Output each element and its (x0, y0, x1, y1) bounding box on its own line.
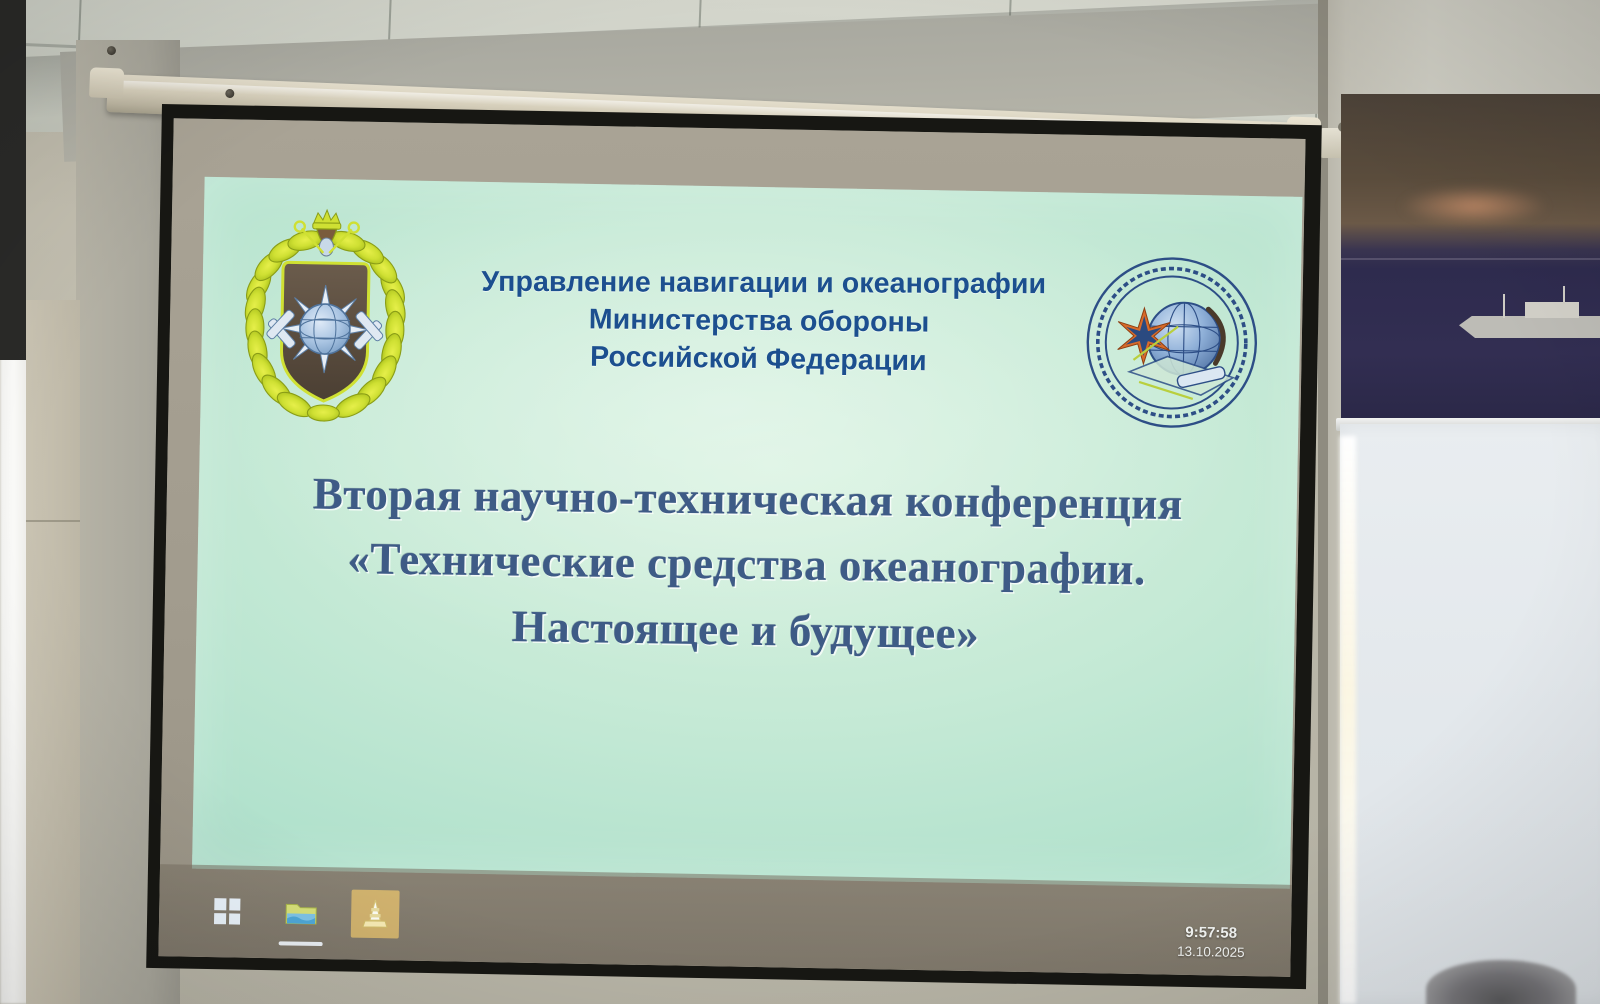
presentation-slide[interactable]: Управление навигации и океанографии Мини… (192, 177, 1302, 889)
painting-ship (1459, 292, 1600, 338)
left-wall-panel (26, 300, 80, 1004)
clock-date: 13.10.2025 (1177, 943, 1245, 962)
folder-icon (284, 898, 319, 927)
taskbar-clock[interactable]: 9:57:58 13.10.2025 (1177, 922, 1245, 962)
projection-screen[interactable]: Управление навигации и океанографии Мини… (146, 104, 1322, 989)
file-explorer-running-indicator (279, 941, 323, 946)
windows-logo-icon (214, 898, 240, 924)
header-line-1: Управление навигации и океанографии (439, 264, 1089, 305)
slide-header: Управление навигации и океанографии Мини… (433, 259, 1085, 385)
naval-ship-painting (1341, 94, 1600, 418)
header-line-3: Российской Федерации (433, 337, 1083, 383)
traffic-cone-icon (360, 898, 391, 931)
whiteboard (1340, 424, 1600, 1004)
painting-cloud (1399, 186, 1549, 226)
slide-title: Вторая научно-техническая конференция «Т… (196, 457, 1297, 673)
unio-mo-rf-emblem-icon (228, 199, 422, 430)
wall-panel-seam (26, 520, 80, 522)
file-explorer-button[interactable] (277, 888, 326, 937)
conference-room-photo: Управление навигации и океанографии Мини… (0, 0, 1600, 1004)
clock-time: 9:57:58 (1177, 922, 1245, 943)
vlc-media-player-button[interactable] (351, 890, 400, 939)
case-endcap-left (89, 67, 124, 98)
start-button[interactable] (203, 887, 252, 936)
case-mount-screw-mid (225, 89, 234, 98)
screen-surface: Управление навигации и океанографии Мини… (158, 118, 1305, 977)
window-light-strip (1340, 436, 1356, 1004)
left-dark-frame (0, 0, 26, 360)
painting-horizon (1341, 258, 1600, 260)
taskbar-icon-group (203, 887, 400, 939)
windows-taskbar[interactable]: 9:57:58 13.10.2025 (158, 864, 1291, 977)
institute-seal-icon (1080, 251, 1263, 434)
